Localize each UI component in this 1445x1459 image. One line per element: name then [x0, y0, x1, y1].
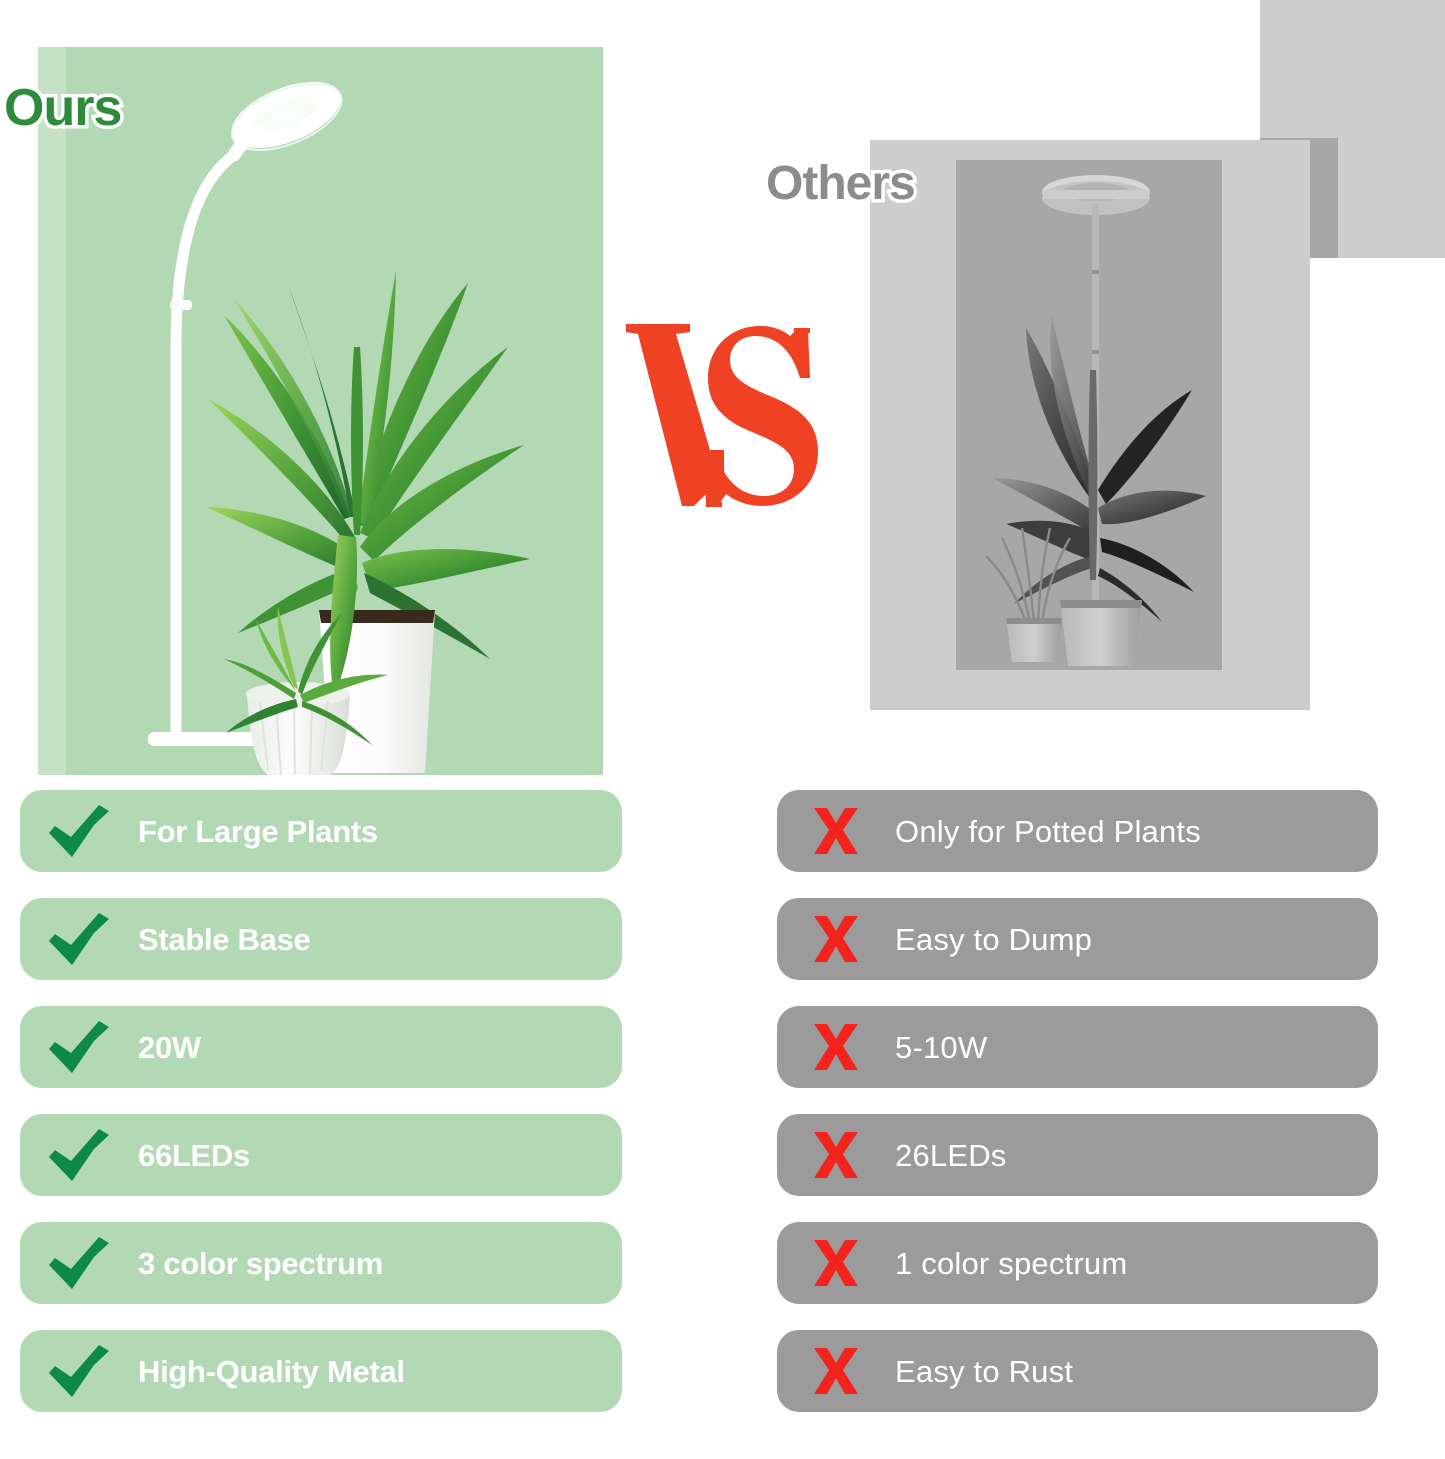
check-icon — [20, 1019, 138, 1075]
cross-icon — [777, 1345, 895, 1397]
ours-image-panel — [38, 47, 603, 775]
others-feature-label: Only for Potted Plants — [895, 816, 1201, 847]
others-image-inner-panel — [956, 160, 1222, 670]
ours-product-illustration — [38, 47, 603, 775]
cross-icon — [777, 1237, 895, 1289]
ours-feature-label: Stable Base — [138, 924, 310, 955]
ours-feature-row[interactable]: 66LEDs — [20, 1114, 622, 1196]
ours-label: Ours — [4, 78, 121, 138]
check-icon — [20, 911, 138, 967]
check-icon — [20, 1235, 138, 1291]
ours-feature-row[interactable]: High-Quality Metal — [20, 1330, 622, 1412]
others-feature-row[interactable]: 26LEDs — [777, 1114, 1378, 1196]
ours-feature-row[interactable]: 3 color spectrum — [20, 1222, 622, 1304]
others-feature-row[interactable]: Easy to Rust — [777, 1330, 1378, 1412]
ours-feature-label: For Large Plants — [138, 816, 378, 847]
others-feature-row[interactable]: 5-10W — [777, 1006, 1378, 1088]
hero-comparison: Ours — [0, 0, 1445, 790]
others-feature-label: 1 color spectrum — [895, 1248, 1127, 1279]
ours-feature-row[interactable]: Stable Base — [20, 898, 622, 980]
versus-icon — [620, 300, 850, 530]
others-feature-row[interactable]: Easy to Dump — [777, 898, 1378, 980]
cross-icon — [777, 1021, 895, 1073]
cross-icon — [777, 1129, 895, 1181]
others-product-illustration — [956, 160, 1222, 670]
comparison-infographic: Ours — [0, 0, 1445, 1459]
ours-feature-label: High-Quality Metal — [138, 1356, 405, 1387]
check-icon — [20, 1343, 138, 1399]
others-feature-label: 5-10W — [895, 1032, 987, 1063]
others-feature-row[interactable]: Only for Potted Plants — [777, 790, 1378, 872]
cross-icon — [777, 913, 895, 965]
others-feature-row[interactable]: 1 color spectrum — [777, 1222, 1378, 1304]
ours-feature-list: For Large Plants Stable Base 20W 66LEDs — [20, 790, 622, 1438]
others-label: Others — [766, 156, 915, 211]
ours-feature-label: 20W — [138, 1032, 201, 1063]
ours-feature-label: 66LEDs — [138, 1140, 250, 1171]
cross-icon — [777, 805, 895, 857]
feature-comparison-lists: For Large Plants Stable Base 20W 66LEDs — [0, 790, 1445, 1459]
ours-feature-row[interactable]: For Large Plants — [20, 790, 622, 872]
ours-feature-label: 3 color spectrum — [138, 1248, 383, 1279]
others-feature-label: 26LEDs — [895, 1140, 1007, 1171]
others-feature-label: Easy to Dump — [895, 924, 1092, 955]
ours-feature-row[interactable]: 20W — [20, 1006, 622, 1088]
check-icon — [20, 1127, 138, 1183]
others-feature-list: Only for Potted Plants Easy to Dump 5-10… — [777, 790, 1378, 1438]
check-icon — [20, 803, 138, 859]
versus-mark — [620, 300, 850, 530]
others-feature-label: Easy to Rust — [895, 1356, 1073, 1387]
ours-panel-accent-strip — [38, 47, 66, 775]
